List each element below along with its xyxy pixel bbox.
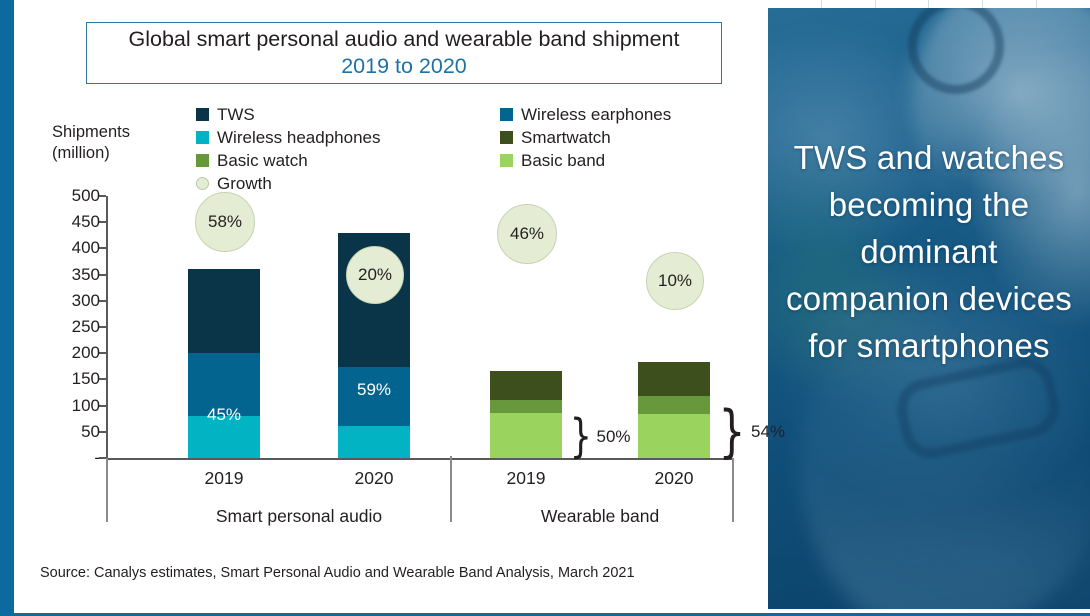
y-axis-tick [99, 405, 106, 407]
growth-bubble[interactable]: 20% [346, 246, 404, 304]
bar-wearable-2019[interactable] [490, 371, 562, 459]
chart-title-line-2: 2019 to 2020 [129, 53, 680, 80]
y-axis-tick [99, 274, 106, 276]
bar-segment-smartwatch[interactable] [638, 362, 710, 396]
y-axis-tick-label: - [40, 448, 100, 468]
y-axis-tick [99, 378, 106, 380]
bar-share-label: 45% [188, 405, 260, 425]
top-strip-cell [1036, 0, 1090, 8]
x-axis-line [106, 458, 734, 460]
plot-area: -5010015020025030035040045050045%59%58%2… [106, 196, 734, 458]
brace-icon: } [570, 413, 592, 459]
y-axis-tick-label: 400 [40, 238, 100, 258]
y-axis-tick-label: 450 [40, 212, 100, 232]
bar-segment-basic-band[interactable] [638, 414, 710, 458]
axis-group-separator [450, 456, 452, 522]
axis-group-separator [106, 458, 108, 522]
y-axis-tick [99, 431, 106, 433]
y-axis-tick [99, 221, 106, 223]
bar-segment-tws[interactable] [188, 269, 260, 353]
y-axis-tick [99, 247, 106, 249]
bracket-annotation: }54% [714, 406, 785, 458]
growth-bubble[interactable]: 58% [195, 192, 255, 252]
chart-title-line-1: Global smart personal audio and wearable… [129, 26, 680, 53]
y-axis-tick [99, 195, 106, 197]
bar-segment-smartwatch[interactable] [490, 371, 562, 401]
y-axis-tick [99, 457, 106, 459]
top-strip-cell [875, 0, 929, 8]
x-axis-group-label: Wearable band [470, 506, 730, 527]
x-axis-group-label: Smart personal audio [169, 506, 429, 527]
bar-wearable-2020[interactable] [638, 362, 710, 458]
bracket-label: 50% [597, 427, 631, 447]
bar-share-label: 59% [338, 380, 410, 400]
bar-segment-basic-watch[interactable] [490, 400, 562, 413]
photo-panel: TWS and watches becoming the dominant co… [768, 8, 1090, 609]
y-axis-title: Shipments (million) [52, 122, 172, 164]
legend-swatch-icon [196, 108, 209, 121]
chart-area: Shipments (million) -5010015020025030035… [38, 122, 738, 542]
y-axis-tick-label: 50 [40, 422, 100, 442]
bar-segment-basic-watch[interactable] [638, 396, 710, 414]
bracket-label: 54% [751, 422, 785, 442]
left-accent-strip [0, 0, 14, 616]
top-divider-strip [768, 0, 1090, 8]
x-axis-category-label: 2020 [614, 468, 734, 489]
y-axis-tick-label: 150 [40, 369, 100, 389]
source-note: Source: Canalys estimates, Smart Persona… [40, 565, 635, 581]
y-axis-tick-label: 200 [40, 343, 100, 363]
bar-segment-basic-band[interactable] [490, 413, 562, 458]
y-axis-tick [99, 352, 106, 354]
bar-smart-audio-2019[interactable] [188, 269, 260, 458]
x-axis-category-label: 2020 [314, 468, 434, 489]
y-axis-title-line-1: Shipments [52, 122, 172, 143]
y-axis-tick-label: 100 [40, 396, 100, 416]
top-strip-cell [821, 0, 875, 8]
x-axis-category-label: 2019 [164, 468, 284, 489]
bar-segment-wireless-headphones[interactable] [338, 426, 410, 458]
y-axis-tick-label: 350 [40, 265, 100, 285]
y-axis-tick-label: 500 [40, 186, 100, 206]
y-axis-title-line-2: (million) [52, 143, 172, 164]
growth-bubble[interactable]: 10% [646, 252, 704, 310]
top-strip-cell [982, 0, 1036, 8]
top-strip-cell [928, 0, 982, 8]
y-axis-tick [99, 326, 106, 328]
brace-icon: } [719, 404, 746, 461]
top-strip-cell [768, 0, 821, 8]
y-axis-tick [99, 300, 106, 302]
growth-bubble[interactable]: 46% [497, 204, 557, 264]
y-axis-tick-label: 250 [40, 317, 100, 337]
slide: TWS and watches becoming the dominant co… [0, 0, 1090, 616]
chart-title-box: Global smart personal audio and wearable… [86, 22, 722, 84]
legend-swatch-icon [500, 108, 513, 121]
y-axis-line [106, 196, 108, 458]
photo-caption: TWS and watches becoming the dominant co… [768, 134, 1090, 369]
x-axis-category-label: 2019 [466, 468, 586, 489]
bracket-annotation: }50% [566, 415, 631, 458]
y-axis-tick-label: 300 [40, 291, 100, 311]
